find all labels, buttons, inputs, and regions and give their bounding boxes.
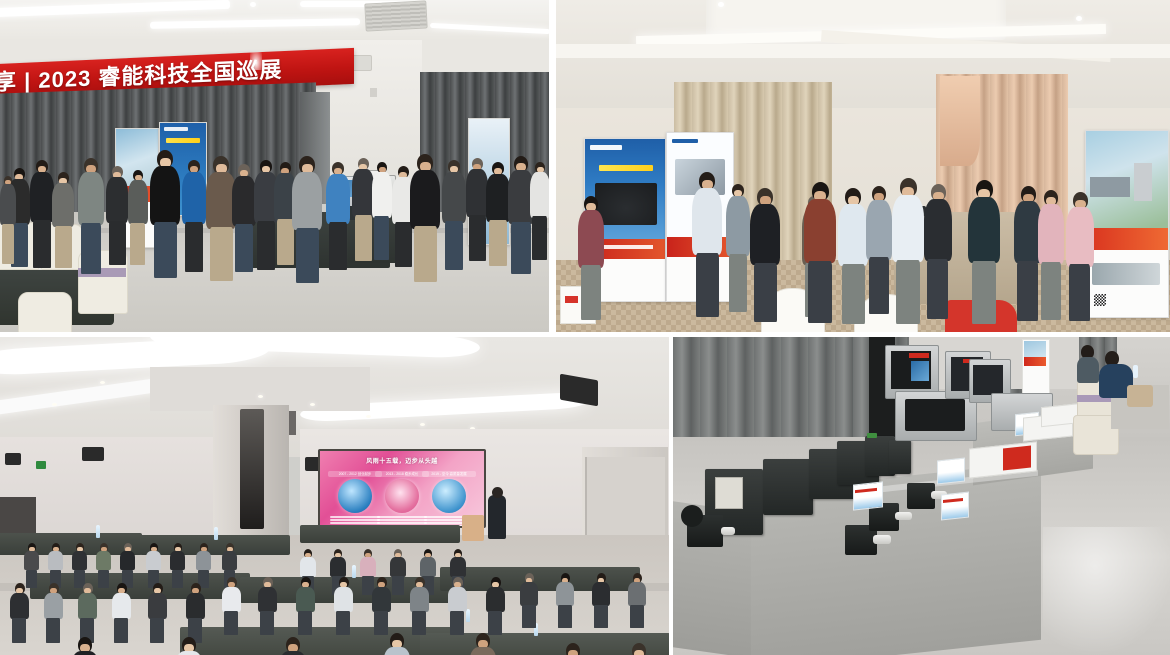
product-card bbox=[937, 458, 965, 485]
slide-card-image bbox=[385, 479, 419, 513]
person-torso bbox=[10, 593, 29, 619]
podium bbox=[462, 515, 484, 541]
slide-card-badge: 2007 - 2012 创业起步 bbox=[328, 471, 382, 477]
rollup-red-band bbox=[1024, 357, 1046, 366]
person-legs bbox=[511, 222, 531, 274]
person bbox=[442, 160, 466, 266]
person-torso bbox=[112, 593, 131, 619]
person bbox=[520, 573, 538, 623]
drape-highlight bbox=[940, 76, 980, 166]
person-torso bbox=[72, 651, 98, 655]
person bbox=[1066, 192, 1094, 316]
person bbox=[78, 158, 104, 268]
person-torso bbox=[1066, 207, 1094, 267]
person-torso bbox=[222, 587, 241, 612]
person-legs bbox=[558, 605, 572, 628]
person bbox=[372, 577, 391, 629]
person-legs bbox=[2, 224, 14, 264]
slide-card-badge: 2013 - 2018 稳步成长 bbox=[375, 471, 429, 477]
person-legs bbox=[450, 611, 464, 635]
photo-collage: 享 | 2023 睿能科技全国巡展 bbox=[0, 0, 1170, 655]
person bbox=[150, 150, 180, 272]
person-legs bbox=[172, 570, 183, 588]
person-torso bbox=[924, 199, 952, 261]
person bbox=[750, 188, 780, 316]
person-legs bbox=[594, 605, 608, 628]
person-torso bbox=[186, 593, 205, 619]
photo-top-right bbox=[556, 0, 1170, 332]
rollup-logo bbox=[672, 139, 698, 143]
person bbox=[924, 184, 952, 314]
photo-bottom-right bbox=[673, 337, 1170, 655]
person bbox=[892, 178, 924, 318]
person bbox=[626, 643, 652, 655]
person bbox=[866, 186, 892, 310]
person-torso bbox=[300, 557, 316, 577]
product-card bbox=[853, 481, 883, 510]
person-legs bbox=[412, 611, 426, 635]
person bbox=[296, 577, 315, 629]
person bbox=[726, 184, 750, 310]
slide-card-image bbox=[432, 479, 466, 513]
floor-reflection bbox=[1043, 527, 1170, 655]
photo-bottom-left: 风雨十五载，迈步从头越 2007 - 2012 创业起步 2013 - 2018… bbox=[0, 337, 669, 655]
person bbox=[372, 162, 392, 258]
person-torso bbox=[448, 587, 467, 612]
motor-shaft bbox=[873, 535, 891, 544]
person-legs bbox=[374, 216, 389, 260]
person bbox=[258, 577, 277, 629]
person-legs bbox=[532, 216, 547, 260]
person-torso bbox=[726, 196, 750, 256]
motor-cable-coil bbox=[681, 505, 703, 527]
person-legs bbox=[488, 611, 502, 635]
product-card bbox=[941, 492, 969, 521]
person-legs bbox=[224, 611, 238, 635]
water-bottle bbox=[1133, 365, 1138, 378]
person-torso bbox=[176, 651, 202, 655]
conference-table bbox=[440, 567, 640, 591]
person-legs bbox=[469, 215, 486, 261]
person bbox=[628, 573, 646, 623]
person-torso bbox=[148, 593, 167, 619]
person-torso bbox=[628, 582, 646, 606]
person-legs bbox=[55, 226, 72, 268]
banner-highlight bbox=[250, 52, 262, 70]
servo-drive bbox=[889, 440, 911, 474]
person-torso bbox=[352, 169, 374, 217]
person-legs bbox=[210, 227, 233, 281]
person-legs bbox=[927, 259, 948, 319]
person-torso bbox=[866, 200, 892, 260]
person bbox=[182, 160, 206, 268]
slide-card-image bbox=[338, 479, 372, 513]
person bbox=[384, 633, 410, 655]
motor-shaft bbox=[721, 527, 735, 535]
person-torso bbox=[52, 183, 74, 227]
wall-fixture bbox=[370, 88, 377, 97]
person bbox=[804, 182, 836, 316]
person bbox=[222, 577, 241, 629]
person bbox=[24, 543, 39, 583]
person-legs bbox=[329, 222, 347, 270]
person bbox=[44, 583, 63, 637]
exit-sign bbox=[36, 461, 46, 469]
person-torso bbox=[1038, 204, 1064, 264]
rollup-product-strip bbox=[1092, 263, 1160, 285]
person-torso bbox=[30, 172, 54, 222]
person-legs bbox=[445, 221, 463, 270]
person-torso bbox=[838, 204, 868, 266]
rollup-logo bbox=[590, 145, 622, 150]
person bbox=[292, 156, 322, 276]
person bbox=[486, 162, 510, 262]
person-legs bbox=[489, 220, 507, 266]
person-torso bbox=[150, 166, 180, 225]
slide-card: 2013 - 2018 稳步成长 bbox=[375, 471, 429, 528]
conference-table bbox=[30, 573, 250, 599]
brochure-cover bbox=[1003, 446, 1031, 471]
person-torso bbox=[106, 177, 128, 223]
rollup-product-image bbox=[595, 183, 657, 225]
qr-code-icon bbox=[1094, 294, 1106, 306]
crown-molding bbox=[556, 44, 1170, 58]
person-torso bbox=[78, 593, 97, 619]
person bbox=[72, 543, 87, 583]
downlight bbox=[718, 2, 724, 7]
person-torso bbox=[360, 557, 376, 577]
person-face bbox=[568, 650, 578, 655]
person-torso bbox=[0, 184, 16, 225]
pillar-mirror-panel bbox=[240, 409, 264, 529]
person-legs bbox=[154, 222, 177, 278]
person-legs bbox=[81, 223, 101, 274]
person-legs bbox=[630, 605, 644, 628]
person-torso bbox=[470, 647, 496, 655]
person bbox=[112, 583, 131, 637]
person bbox=[578, 196, 604, 316]
person-legs bbox=[355, 215, 372, 261]
person-torso bbox=[170, 551, 185, 570]
person-torso bbox=[692, 188, 722, 255]
person bbox=[72, 637, 98, 655]
ceiling-vent bbox=[364, 0, 427, 31]
person-torso bbox=[44, 593, 63, 619]
person bbox=[148, 583, 167, 637]
person-torso bbox=[292, 172, 322, 230]
person bbox=[146, 543, 161, 583]
person-torso bbox=[296, 587, 315, 612]
person-legs bbox=[522, 605, 536, 628]
person-legs bbox=[260, 611, 274, 635]
person-torso bbox=[232, 176, 256, 226]
drive-indicator bbox=[867, 433, 877, 438]
person-torso bbox=[520, 582, 538, 606]
person-legs bbox=[12, 618, 26, 643]
campus-tower bbox=[1134, 163, 1152, 201]
person-torso bbox=[384, 647, 410, 655]
servo-drive bbox=[763, 459, 813, 515]
person-torso bbox=[24, 551, 39, 570]
person bbox=[326, 162, 350, 266]
person bbox=[968, 180, 1000, 318]
person-legs bbox=[1041, 262, 1061, 320]
person-torso bbox=[78, 172, 104, 225]
person bbox=[52, 172, 74, 264]
person-torso bbox=[120, 551, 135, 570]
person bbox=[410, 577, 429, 629]
person-legs bbox=[842, 264, 865, 324]
rollup-logo bbox=[164, 127, 188, 131]
person-torso bbox=[48, 551, 63, 570]
person-legs bbox=[729, 254, 747, 312]
person bbox=[128, 170, 148, 262]
person-legs bbox=[296, 228, 319, 283]
person-legs bbox=[46, 618, 60, 643]
person bbox=[592, 573, 610, 623]
slide-card-badge: 2019 - 至今 高质量发展 bbox=[422, 471, 476, 477]
person-torso bbox=[326, 174, 350, 224]
drive-label bbox=[715, 477, 743, 509]
person-legs bbox=[98, 570, 109, 588]
person-legs bbox=[114, 618, 128, 643]
person-torso bbox=[968, 197, 1000, 263]
case-foam-interior bbox=[905, 399, 965, 431]
person-torso bbox=[486, 587, 505, 612]
person bbox=[448, 577, 467, 629]
person-torso bbox=[128, 180, 148, 224]
person bbox=[78, 583, 97, 637]
person-legs bbox=[414, 226, 437, 282]
person-torso bbox=[892, 195, 924, 262]
person bbox=[530, 162, 549, 258]
person-legs bbox=[185, 222, 203, 272]
campus-building bbox=[1090, 177, 1130, 197]
rollup-red-band bbox=[1086, 228, 1168, 250]
photo-top-left: 享 | 2023 睿能科技全国巡展 bbox=[0, 0, 549, 332]
person-torso bbox=[334, 587, 353, 612]
person-legs bbox=[754, 263, 777, 322]
presenter-body bbox=[488, 495, 506, 539]
person-legs bbox=[972, 261, 996, 324]
presenter-head bbox=[492, 487, 503, 498]
person-legs bbox=[696, 253, 719, 317]
person bbox=[838, 188, 868, 318]
rollup-headline bbox=[166, 138, 200, 143]
case-interior bbox=[973, 365, 1003, 395]
person-torso bbox=[196, 551, 211, 570]
person-torso bbox=[372, 587, 391, 612]
person-legs bbox=[869, 257, 889, 314]
person bbox=[334, 577, 353, 629]
person-torso bbox=[442, 172, 466, 223]
person bbox=[196, 543, 211, 583]
person-torso bbox=[72, 551, 87, 570]
bag-logo bbox=[565, 296, 578, 303]
person bbox=[232, 164, 256, 268]
person-legs bbox=[1069, 264, 1090, 321]
person-legs bbox=[130, 223, 145, 265]
person-torso bbox=[450, 557, 466, 577]
person bbox=[470, 633, 496, 655]
person-torso bbox=[372, 172, 392, 218]
person-legs bbox=[235, 224, 253, 272]
person-torso bbox=[592, 582, 610, 606]
wall-speaker bbox=[5, 453, 21, 465]
person-torso bbox=[182, 172, 206, 224]
person-torso bbox=[420, 557, 436, 577]
person bbox=[692, 172, 722, 312]
person bbox=[106, 166, 128, 262]
person-face bbox=[634, 650, 644, 655]
wall-speaker bbox=[82, 447, 104, 461]
person-legs bbox=[150, 618, 164, 643]
person-legs bbox=[109, 221, 126, 265]
person-torso bbox=[280, 651, 306, 655]
person-torso bbox=[96, 551, 111, 570]
person bbox=[10, 583, 29, 637]
person-torso bbox=[578, 210, 604, 268]
person-torso bbox=[258, 587, 277, 612]
person-torso bbox=[410, 170, 440, 229]
person bbox=[170, 543, 185, 583]
person bbox=[352, 158, 374, 258]
person-legs bbox=[808, 261, 832, 323]
person-torso bbox=[222, 551, 237, 570]
rollup-banner-3 bbox=[1085, 130, 1169, 318]
person bbox=[280, 637, 306, 655]
person-torso bbox=[804, 199, 836, 263]
person bbox=[1038, 190, 1064, 316]
person-legs bbox=[896, 260, 920, 324]
person bbox=[48, 543, 63, 583]
person bbox=[486, 577, 505, 629]
downlight bbox=[1076, 16, 1082, 21]
person-legs bbox=[392, 576, 404, 595]
person-legs bbox=[336, 611, 350, 635]
person bbox=[390, 549, 406, 591]
person bbox=[0, 176, 16, 262]
person-legs bbox=[1017, 261, 1038, 321]
person bbox=[176, 637, 202, 655]
person bbox=[410, 154, 440, 276]
case-brand-label bbox=[909, 353, 929, 358]
conference-table bbox=[300, 525, 460, 543]
person bbox=[120, 543, 135, 583]
presentation-screen: 风雨十五载，迈步从头越 2007 - 2012 创业起步 2013 - 2018… bbox=[318, 449, 486, 528]
person-legs bbox=[33, 220, 51, 268]
person-torso bbox=[486, 174, 510, 222]
slide-title: 风雨十五载，迈步从头越 bbox=[320, 456, 484, 465]
chair bbox=[18, 292, 72, 332]
downlight bbox=[250, 2, 256, 7]
person-torso bbox=[556, 582, 574, 606]
person-torso bbox=[146, 551, 161, 570]
person-torso bbox=[330, 557, 346, 577]
person-legs bbox=[298, 611, 312, 635]
person-torso bbox=[530, 172, 549, 218]
person bbox=[96, 543, 111, 583]
motor-shaft bbox=[895, 512, 912, 520]
person bbox=[30, 160, 54, 264]
person-torso bbox=[390, 557, 406, 577]
person-legs bbox=[581, 265, 601, 320]
person-torso bbox=[466, 169, 488, 217]
wall-panel bbox=[352, 55, 372, 71]
person bbox=[556, 573, 574, 623]
person bbox=[560, 643, 586, 655]
person-torso bbox=[410, 587, 429, 612]
person bbox=[466, 158, 488, 258]
rollup-headline bbox=[599, 165, 653, 171]
case-panel-screen bbox=[911, 361, 929, 381]
person-torso bbox=[750, 204, 780, 265]
person bbox=[186, 583, 205, 637]
person-legs bbox=[374, 611, 388, 635]
slide-card: 2007 - 2012 创业起步 bbox=[328, 471, 382, 528]
person-legs bbox=[257, 221, 275, 270]
